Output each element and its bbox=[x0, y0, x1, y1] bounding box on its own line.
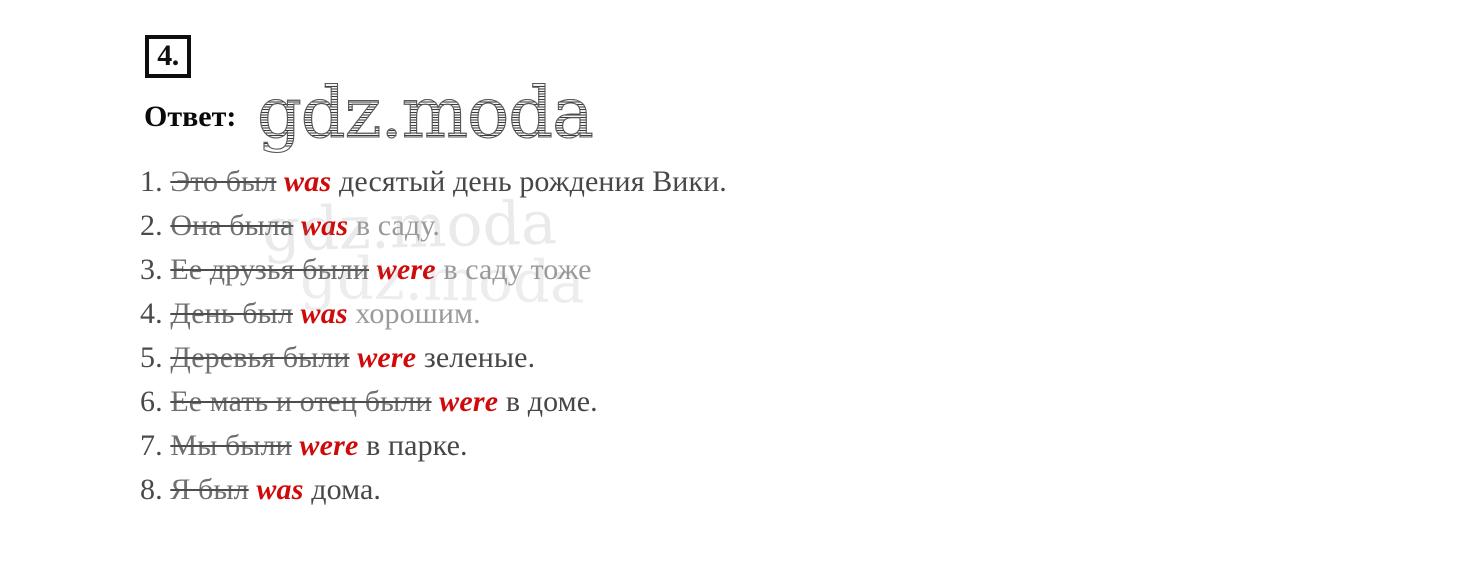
sentence-index: 2. bbox=[140, 209, 163, 242]
task-number-box: 4. bbox=[145, 35, 191, 78]
sentence-remainder: хорошим. bbox=[355, 297, 480, 330]
answer-page: 4. Ответ: gdz.moda gdz.moda gdz.moda 1. … bbox=[0, 0, 1460, 586]
struck-russian-verb-phrase: Деревья были bbox=[170, 341, 349, 374]
sentence-remainder: зеленые. bbox=[424, 341, 535, 374]
sentence-row: 7. Мы были were в парке. bbox=[140, 424, 1340, 468]
task-number: 4. bbox=[157, 41, 179, 71]
answer-label: Ответ: bbox=[144, 100, 236, 134]
struck-russian-verb-phrase: Она была bbox=[170, 209, 293, 242]
sentence-row: 8. Я был was дома. bbox=[140, 468, 1340, 512]
answer-word: was bbox=[284, 165, 331, 198]
struck-russian-verb-phrase: Мы были bbox=[170, 429, 291, 462]
sentence-row: 1. Это был was десятый день рождения Вик… bbox=[140, 160, 1340, 204]
sentence-remainder: в саду тоже bbox=[443, 253, 591, 286]
struck-russian-verb-phrase: День был bbox=[170, 297, 293, 330]
answer-word: were bbox=[357, 341, 416, 374]
sentence-remainder: в парке. bbox=[366, 429, 467, 462]
sentence-index: 4. bbox=[140, 297, 163, 330]
answer-word: was bbox=[301, 209, 348, 242]
sentence-remainder: в доме. bbox=[506, 385, 598, 418]
answer-word: was bbox=[301, 297, 348, 330]
sentence-index: 8. bbox=[140, 473, 163, 506]
sentence-index: 6. bbox=[140, 385, 163, 418]
answer-word: were bbox=[299, 429, 358, 462]
answer-word: was bbox=[256, 473, 303, 506]
sentence-list: 1. Это был was десятый день рождения Вик… bbox=[140, 160, 1340, 512]
watermark-logo-icon: gdz.moda bbox=[257, 78, 593, 148]
sentence-index: 1. bbox=[140, 165, 163, 198]
sentence-remainder: дома. bbox=[311, 473, 381, 506]
sentence-index: 7. bbox=[140, 429, 163, 462]
answer-word: were bbox=[439, 385, 498, 418]
answer-word: were bbox=[377, 253, 436, 286]
sentence-remainder: в саду. bbox=[356, 209, 440, 242]
sentence-row: 4. День был was хорошим. bbox=[140, 292, 1340, 336]
sentence-row: 2. Она была was в саду. bbox=[140, 204, 1340, 248]
sentence-remainder: десятый день рождения Вики. bbox=[339, 165, 727, 198]
struck-russian-verb-phrase: Я был bbox=[170, 473, 248, 506]
struck-russian-verb-phrase: Ее друзья были bbox=[170, 253, 369, 286]
sentence-row: 3. Ее друзья были were в саду тоже bbox=[140, 248, 1340, 292]
struck-russian-verb-phrase: Ее мать и отец были bbox=[170, 385, 431, 418]
sentence-row: 5. Деревья были were зеленые. bbox=[140, 336, 1340, 380]
sentence-index: 5. bbox=[140, 341, 163, 374]
sentence-row: 6. Ее мать и отец были were в доме. bbox=[140, 380, 1340, 424]
struck-russian-verb-phrase: Это был bbox=[170, 165, 276, 198]
sentence-index: 3. bbox=[140, 253, 163, 286]
